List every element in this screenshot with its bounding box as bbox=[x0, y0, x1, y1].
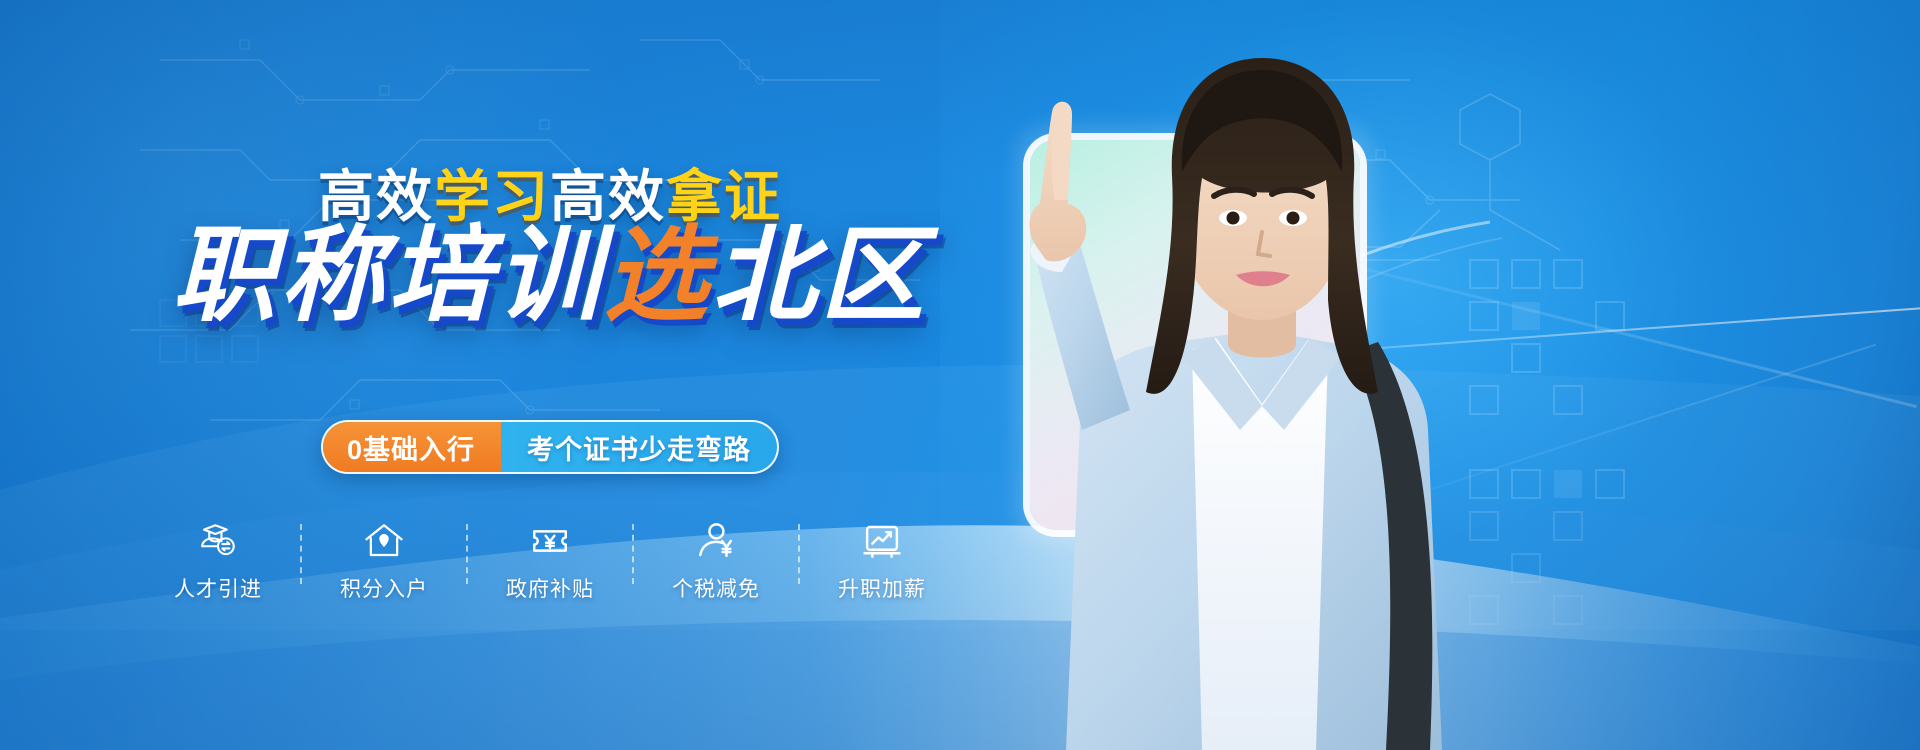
banner-content: 高效学习高效拿证 职称培训选北区 0基础入行 考个证书少走弯路 人才引进 bbox=[0, 0, 1100, 750]
feature-divider bbox=[466, 524, 468, 584]
house-pin-icon bbox=[363, 520, 405, 562]
feature-item-subsidy[interactable]: 政府补贴 bbox=[482, 520, 618, 603]
feature-label: 个税减免 bbox=[672, 573, 760, 603]
sub-badge: 0基础入行 考个证书少走弯路 bbox=[321, 420, 779, 474]
headline-after: 北区 bbox=[712, 218, 928, 334]
feature-item-talent[interactable]: 人才引进 bbox=[150, 520, 286, 603]
headline-before: 职称培训 bbox=[172, 218, 604, 334]
chart-board-icon bbox=[861, 520, 903, 562]
coupon-yuan-icon bbox=[529, 520, 571, 562]
feature-list: 人才引进 积分入户 政府补贴 bbox=[150, 520, 950, 603]
feature-divider bbox=[300, 524, 302, 584]
feature-item-promotion[interactable]: 升职加薪 bbox=[814, 520, 950, 603]
feature-item-tax[interactable]: 个税减免 bbox=[648, 520, 784, 603]
feature-divider bbox=[798, 524, 800, 584]
promo-banner: 高效学习高效拿证 职称培训选北区 0基础入行 考个证书少走弯路 人才引进 bbox=[0, 0, 1920, 750]
person-yuan-icon bbox=[695, 520, 737, 562]
badge-right-label: 考个证书少走弯路 bbox=[501, 422, 777, 472]
feature-label: 人才引进 bbox=[174, 573, 262, 603]
page-title: 职称培训选北区 bbox=[0, 218, 1100, 334]
feature-label: 升职加薪 bbox=[838, 573, 926, 603]
headline-accent: 选 bbox=[604, 218, 712, 334]
graduate-exchange-icon bbox=[197, 520, 239, 562]
feature-label: 积分入户 bbox=[340, 573, 428, 603]
badge-left-label: 0基础入行 bbox=[321, 420, 501, 474]
feature-item-residency[interactable]: 积分入户 bbox=[316, 520, 452, 603]
feature-divider bbox=[632, 524, 634, 584]
feature-label: 政府补贴 bbox=[506, 573, 594, 603]
